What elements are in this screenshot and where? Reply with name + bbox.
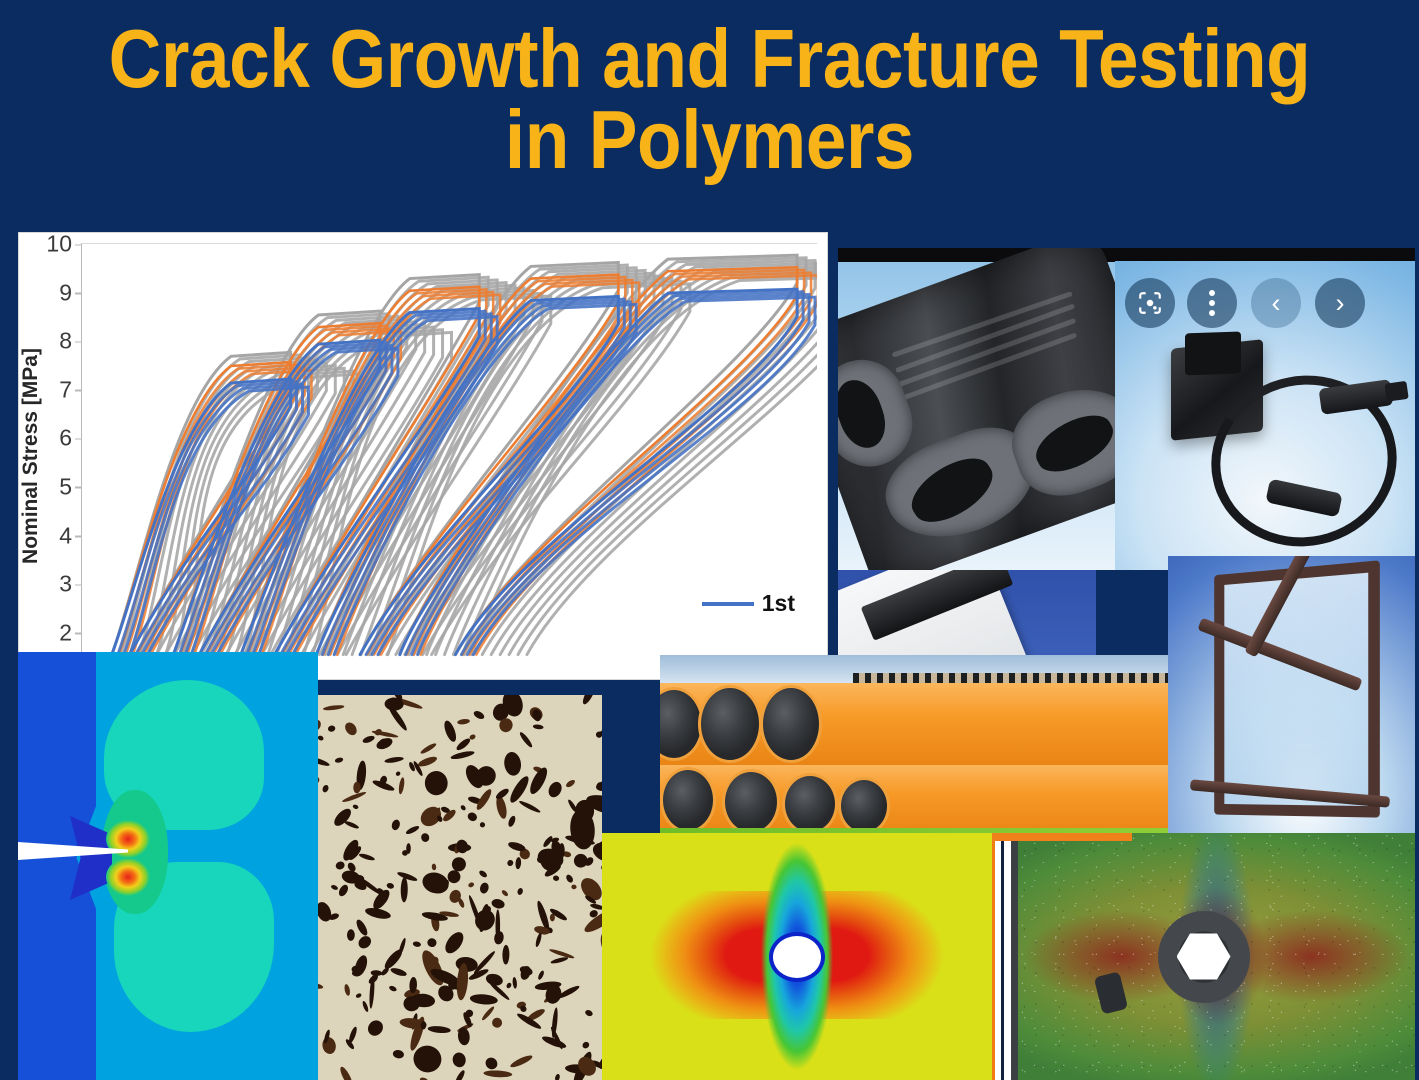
pipe-end-cap [760, 685, 822, 763]
legend-swatch-1st [702, 602, 754, 606]
pipe-end-cap [698, 685, 762, 763]
pipe-end-cap [782, 773, 838, 835]
pipes-overlap-strip [992, 833, 1132, 841]
gasket-frame-photo [1168, 556, 1415, 838]
seal-rib [898, 318, 1076, 387]
pipe-end-cap [660, 767, 716, 833]
chevron-right-icon[interactable]: › [1315, 278, 1365, 328]
chart-y-tick: 4 [59, 522, 82, 549]
seal-profile-photo [838, 248, 1115, 570]
chart-plot-area: 1098765432 1st [81, 243, 817, 657]
chevron-left-glyph: ‹ [1272, 290, 1281, 317]
filler-particle-micrograph [318, 695, 602, 1080]
connector-cable-photo: ‹ › [1115, 248, 1415, 570]
chart-legend: 1st [702, 590, 795, 617]
chevron-right-glyph: › [1336, 290, 1345, 317]
chart-y-tick: 7 [59, 376, 82, 403]
pipe-end-cap [838, 777, 890, 835]
seal-rib [895, 303, 1075, 373]
chevron-left-icon[interactable]: ‹ [1251, 278, 1301, 328]
legend-label-1st: 1st [762, 590, 795, 617]
chart-y-tick: 2 [59, 619, 82, 646]
more-vertical-icon[interactable] [1187, 278, 1237, 328]
chart-y-tick: 6 [59, 425, 82, 452]
cyclic-stress-strain-chart: Nominal Stress [MPa] 1098765432 1st [18, 232, 828, 680]
more-vertical-dots [1209, 290, 1215, 316]
chart-y-tick: 3 [59, 571, 82, 598]
connector-photo-topbar [1115, 248, 1415, 261]
chart-y-tick: 5 [59, 473, 82, 500]
lens-icon-glyph [1137, 290, 1163, 316]
fea-crack-tip-field [18, 652, 318, 1080]
orange-pipes-photo [660, 655, 1168, 836]
hole-cutout [773, 936, 821, 978]
fea-far-field-region [18, 652, 74, 1080]
chart-y-axis-label: Nominal Stress [MPa] [19, 306, 43, 606]
chart-y-tick: 9 [59, 279, 82, 306]
dic-hexagonal-hole [1158, 911, 1250, 1003]
chart-y-tick: 10 [46, 232, 82, 258]
filler-particle [448, 870, 461, 883]
chart-y-tick: 8 [59, 328, 82, 355]
micrograph-particles [318, 695, 602, 1080]
lens-icon[interactable] [1125, 278, 1175, 328]
seal-profile-body [838, 248, 1115, 570]
fea-hotspot-lower [106, 858, 150, 896]
fea-hole-stress-field [602, 833, 992, 1080]
dic-strain-field [992, 833, 1415, 1080]
pipe-end-cap [722, 769, 780, 835]
image-collage: Nominal Stress [MPa] 1098765432 1st [0, 0, 1419, 1080]
dic-specimen-edge [992, 833, 1018, 1080]
poster-root: Crack Growth and Fracture Testing in Pol… [0, 0, 1419, 1080]
filler-particle [495, 909, 500, 942]
